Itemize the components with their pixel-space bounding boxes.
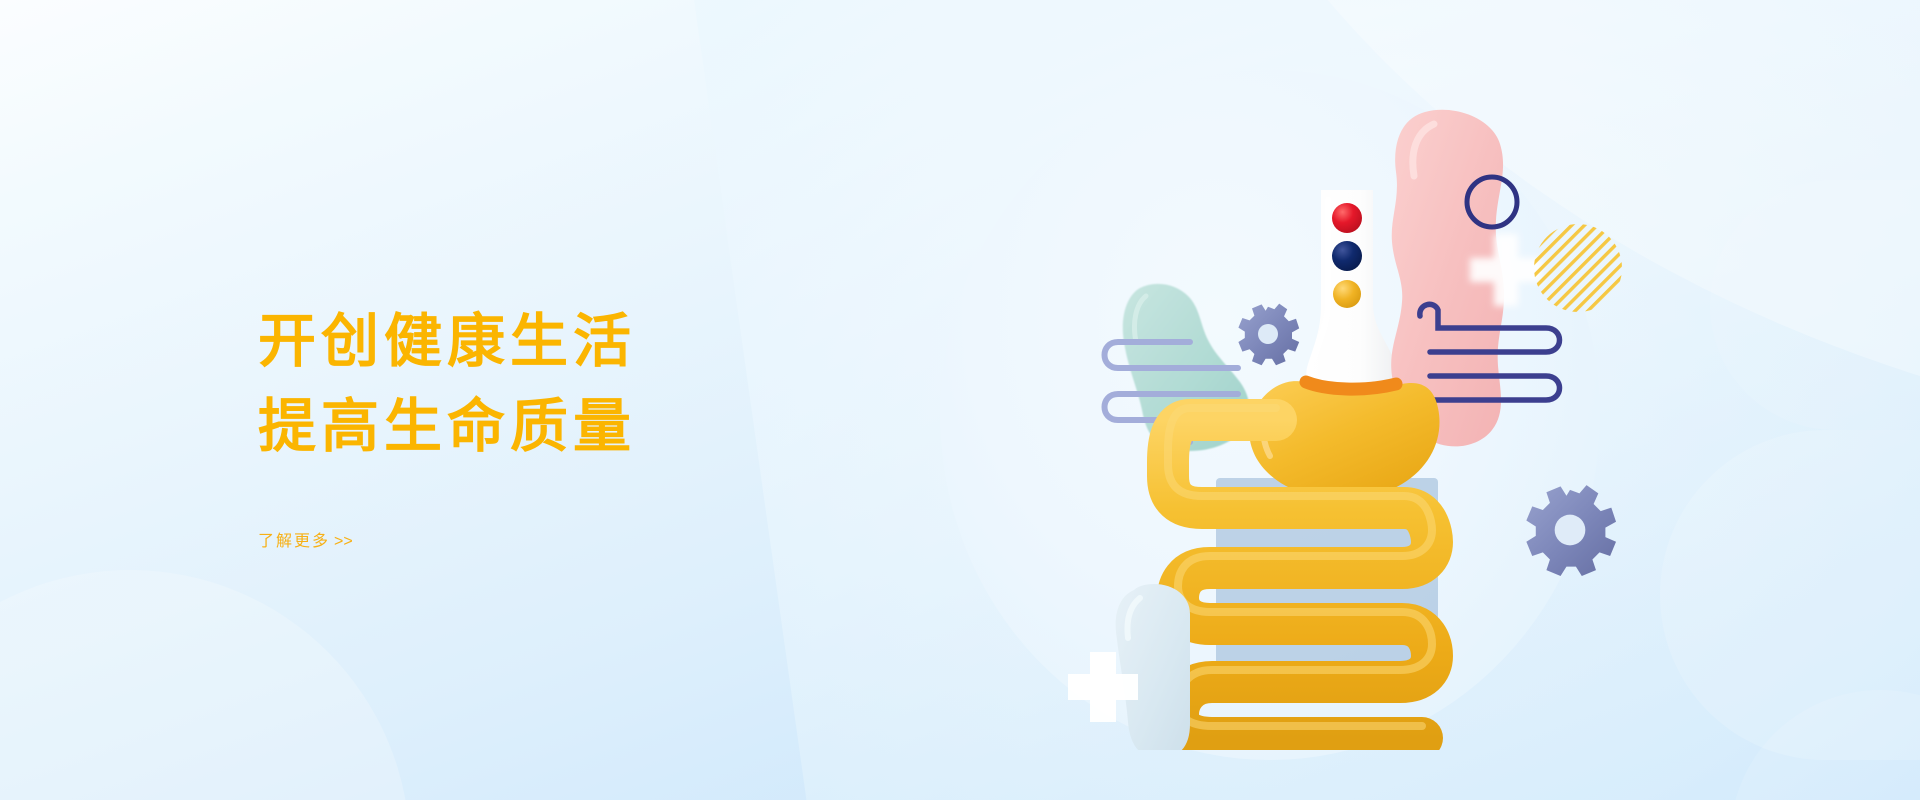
dot-navy-icon — [1332, 241, 1362, 271]
chevron-right-icon: >> — [334, 533, 353, 550]
pale-organ-shape — [1116, 584, 1190, 750]
gear-large-icon — [1526, 485, 1616, 576]
background-corner-circle — [0, 570, 410, 800]
headline-line-1: 开创健康生活 — [258, 300, 978, 385]
learn-more-label: 了解更多 — [258, 533, 330, 550]
hero-banner: 开创健康生活 提高生命质量 了解更多>> — [0, 0, 1920, 800]
striped-circle-icon — [1530, 220, 1626, 316]
dot-red-icon — [1332, 203, 1362, 233]
headline-line-2: 提高生命质量 — [258, 385, 978, 470]
digestive-system-illustration — [1030, 90, 1730, 750]
learn-more-link[interactable]: 了解更多>> — [258, 527, 353, 551]
esophagus-flask — [1306, 190, 1396, 394]
hero-copy: 开创健康生活 提高生命质量 了解更多>> — [258, 300, 978, 551]
dot-yellow-icon — [1333, 280, 1361, 308]
gear-small-icon — [1238, 304, 1299, 366]
